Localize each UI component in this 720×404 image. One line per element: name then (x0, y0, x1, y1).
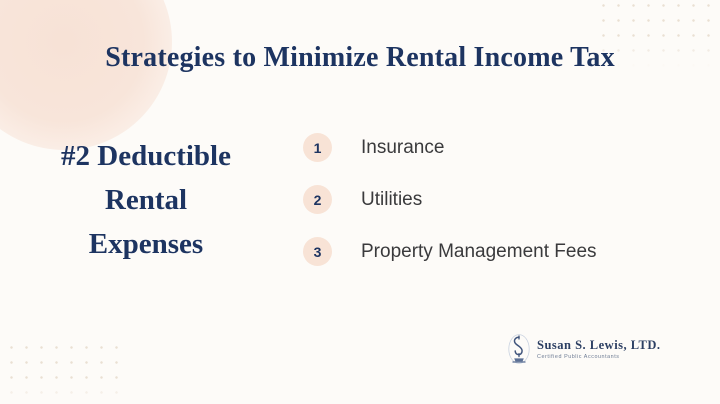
list-number-badge: 1 (303, 133, 332, 162)
section-heading-line-1: #2 Deductible (12, 134, 280, 178)
slide-title: Strategies to Minimize Rental Income Tax (0, 42, 720, 74)
deductible-expenses-list: 1 Insurance 2 Utilities 3 Property Manag… (303, 133, 633, 289)
list-item-label: Insurance (361, 133, 444, 163)
list-item-label: Property Management Fees (361, 237, 597, 267)
susan-lewis-monogram-icon (508, 334, 530, 364)
list-number-badge: 2 (303, 185, 332, 214)
dot-grid-bottom-left-decoration (2, 338, 120, 404)
slide-canvas: Strategies to Minimize Rental Income Tax… (0, 0, 720, 404)
logo-company-name: Susan S. Lewis, LTD. (537, 338, 660, 352)
company-logo: Susan S. Lewis, LTD. Certified Public Ac… (508, 334, 660, 364)
section-heading-line-3: Expenses (12, 222, 280, 266)
list-number-badge: 3 (303, 237, 332, 266)
list-item-label: Utilities (361, 185, 422, 215)
list-item: 2 Utilities (303, 185, 633, 215)
list-item: 1 Insurance (303, 133, 633, 163)
peach-circle-blob-decoration (0, 0, 172, 150)
list-item: 3 Property Management Fees (303, 237, 633, 267)
section-heading-line-2: Rental (12, 178, 280, 222)
logo-tagline: Certified Public Accountants (537, 354, 660, 360)
section-heading: #2 Deductible Rental Expenses (12, 134, 280, 266)
logo-text-block: Susan S. Lewis, LTD. Certified Public Ac… (537, 338, 660, 360)
